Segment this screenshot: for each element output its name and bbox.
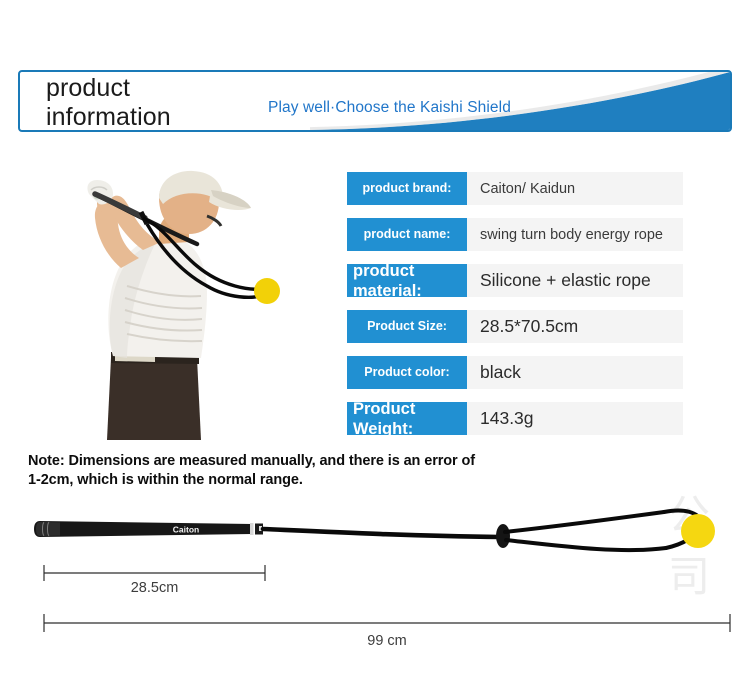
spec-value: Silicone + elastic rope — [467, 264, 683, 297]
table-row: product name: swing turn body energy rop… — [347, 218, 683, 251]
golfer-illustration — [55, 168, 323, 440]
spec-label: Product color: — [347, 356, 467, 389]
table-row: Product Weight: 143.3g — [347, 402, 683, 435]
product-spec-table: product brand: Caiton/ Kaidun product na… — [347, 172, 683, 448]
spec-label: Product Size: — [347, 310, 467, 343]
spec-label: product material: — [347, 264, 467, 297]
spec-value: Caiton/ Kaidun — [467, 172, 683, 205]
dimension-label-grip: 28.5cm — [44, 580, 265, 596]
table-row: Product Size: 28.5*70.5cm — [347, 310, 683, 343]
product-information-banner: product information Play well·Choose the… — [18, 70, 732, 132]
page-title: product information — [46, 74, 171, 132]
spec-value: 143.3g — [467, 402, 683, 435]
table-row: Product color: black — [347, 356, 683, 389]
banner-tagline: Play well·Choose the Kaishi Shield — [268, 99, 511, 117]
spec-value: 28.5*70.5cm — [467, 310, 683, 343]
spec-label: product name: — [347, 218, 467, 251]
spec-label: product brand: — [347, 172, 467, 205]
table-row: product brand: Caiton/ Kaidun — [347, 172, 683, 205]
product-lifestyle-photo — [55, 168, 323, 440]
spec-value: black — [467, 356, 683, 389]
table-row: product material: Silicone + elastic rop… — [347, 264, 683, 297]
dimension-label-total: 99 cm — [44, 633, 730, 649]
yellow-ball — [681, 514, 715, 548]
spec-value: swing turn body energy rope — [467, 218, 683, 251]
grip-brand-text: Caiton — [173, 525, 199, 535]
measurement-note: Note: Dimensions are measured manually, … — [28, 452, 508, 490]
spec-label: Product Weight: — [347, 402, 467, 435]
